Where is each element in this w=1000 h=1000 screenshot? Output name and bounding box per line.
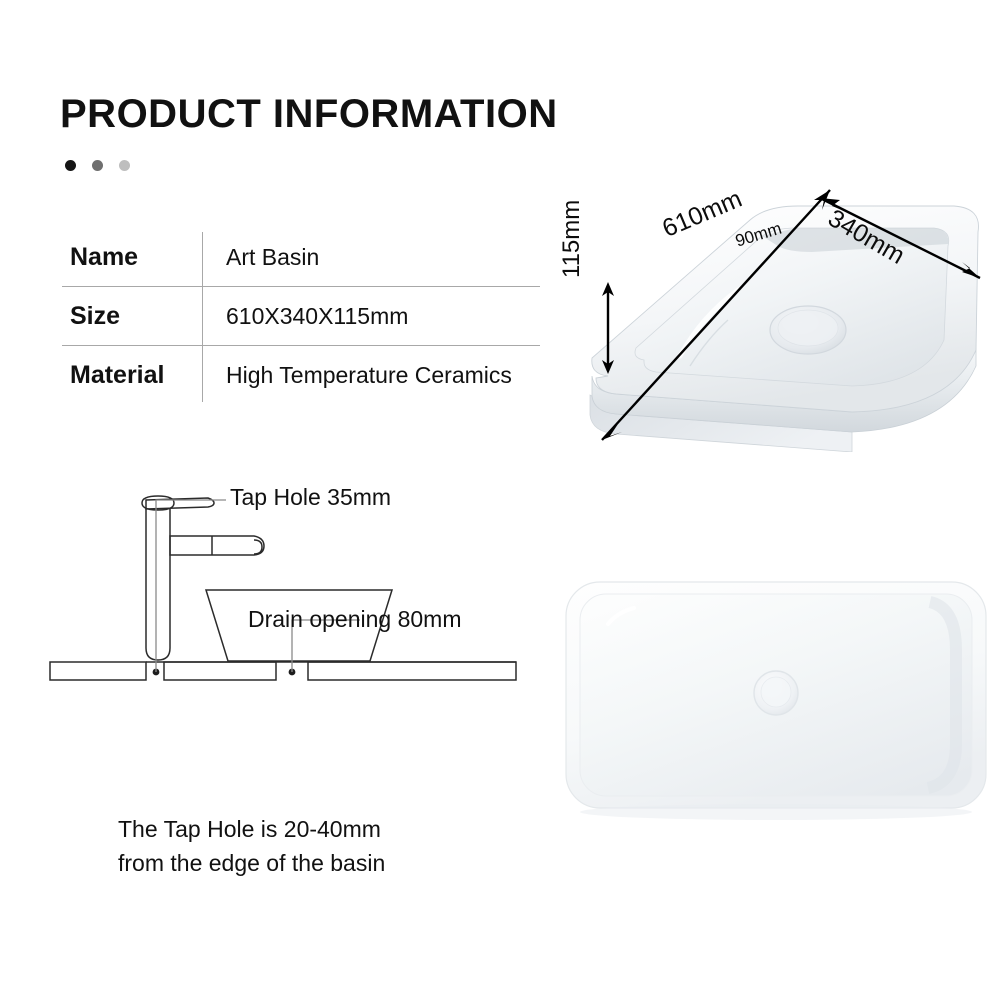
drain-callout-label: Drain opening 80mm — [248, 606, 462, 633]
drain-cap — [761, 677, 791, 707]
spec-table: Name Art Basin Size 610X340X115mm Materi… — [62, 228, 540, 404]
spec-label-size: Size — [62, 302, 202, 331]
spec-value-size: 610X340X115mm — [202, 303, 540, 330]
carousel-dot-2[interactable] — [92, 160, 103, 171]
spec-label-name: Name — [62, 243, 202, 272]
carousel-dot-3[interactable] — [119, 160, 130, 171]
carousel-dots — [65, 160, 130, 171]
tap-hole-callout-label: Tap Hole 35mm — [230, 484, 391, 511]
spec-value-material: High Temperature Ceramics — [202, 362, 540, 389]
installation-caption: The Tap Hole is 20-40mm from the edge of… — [118, 812, 385, 880]
faucet-spout — [170, 536, 264, 555]
table-row: Size 610X340X115mm — [62, 286, 540, 345]
faucet-body — [142, 496, 174, 660]
basin-top-view-photo — [552, 562, 1000, 854]
basin-drop-shadow — [580, 804, 972, 820]
table-row: Name Art Basin — [62, 228, 540, 286]
spec-value-name: Art Basin — [202, 244, 540, 271]
page-title: PRODUCT INFORMATION — [60, 92, 558, 137]
spec-label-material: Material — [62, 361, 202, 390]
spec-table-divider — [202, 232, 203, 402]
table-row: Material High Temperature Ceramics — [62, 345, 540, 404]
countertop — [50, 662, 516, 680]
caption-line-1: The Tap Hole is 20-40mm — [118, 812, 385, 846]
dimension-label-height: 115mm — [558, 200, 586, 278]
caption-line-2: from the edge of the basin — [118, 846, 385, 880]
basin-3d-illustration: 610mm 340mm 90mm 115mm — [552, 160, 1000, 452]
tap-hole-leader-line — [156, 500, 226, 672]
carousel-dot-1[interactable] — [65, 160, 76, 171]
drain-cap — [778, 310, 838, 346]
installation-line-drawing: Tap Hole 35mm Drain opening 80mm — [40, 470, 540, 810]
